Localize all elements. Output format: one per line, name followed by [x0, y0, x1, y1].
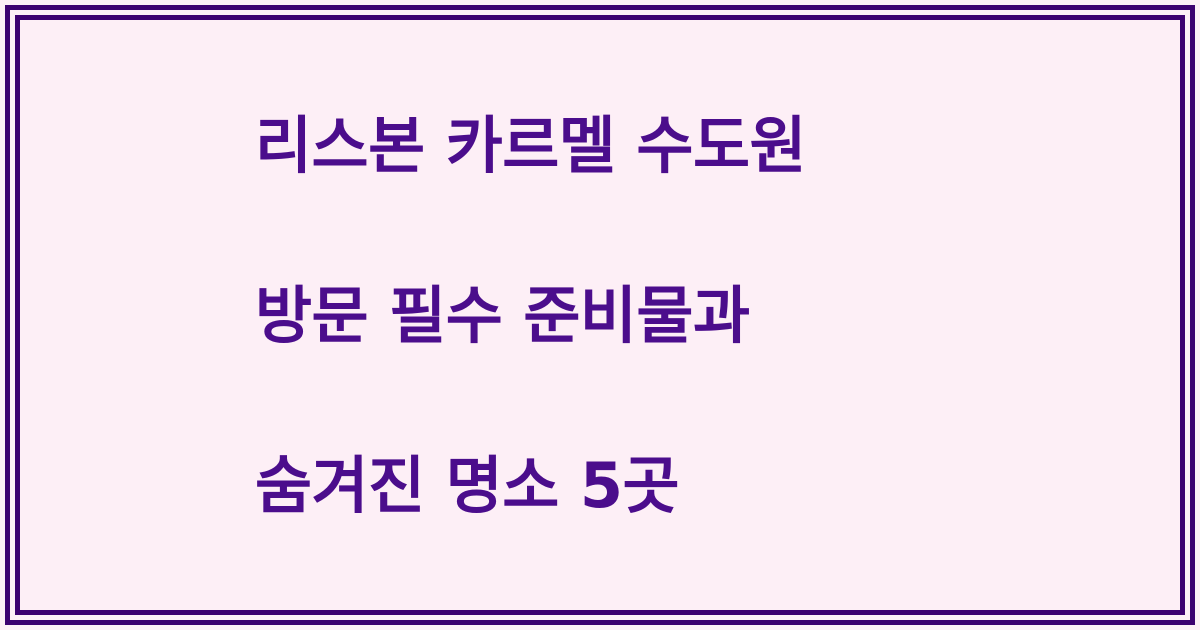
title-line-3: 숨겨진 명소 5곳	[255, 443, 1140, 528]
thumbnail-card: 리스본 카르멜 수도원 방문 필수 준비물과 숨겨진 명소 5곳	[0, 0, 1200, 630]
outer-border-frame: 리스본 카르멜 수도원 방문 필수 준비물과 숨겨진 명소 5곳	[5, 5, 1195, 625]
inner-border-frame: 리스본 카르멜 수도원 방문 필수 준비물과 숨겨진 명소 5곳	[15, 15, 1185, 615]
page-title: 리스본 카르멜 수도원 방문 필수 준비물과 숨겨진 명소 5곳	[20, 18, 1180, 613]
title-line-2: 방문 필수 준비물과	[255, 273, 1140, 358]
title-line-1: 리스본 카르멜 수도원	[255, 103, 1140, 188]
